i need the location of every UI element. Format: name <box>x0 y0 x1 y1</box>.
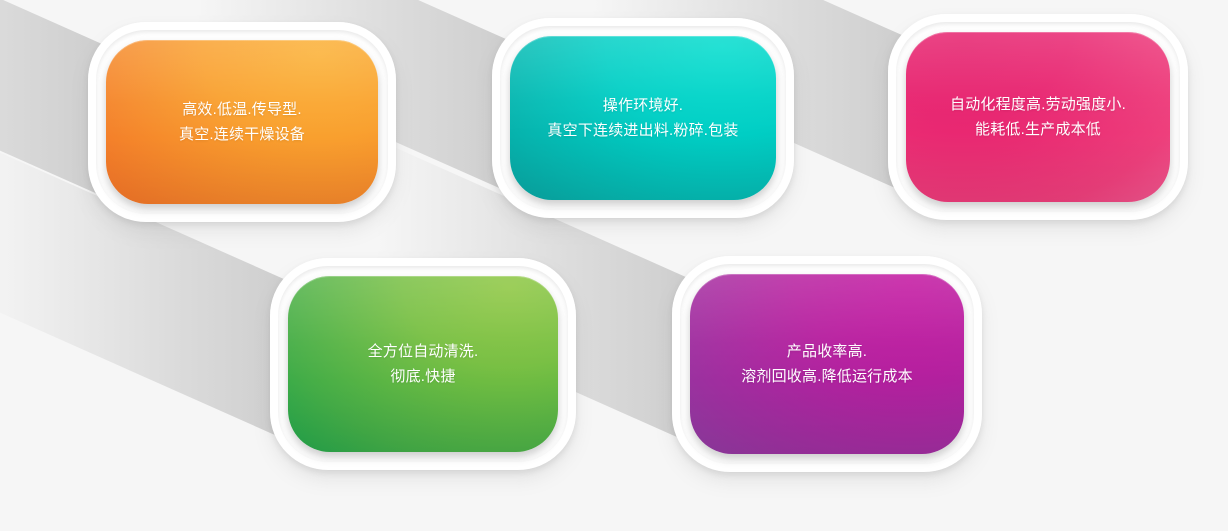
feature-card-panel: 高效.低温.传导型. 真空.连续干燥设备 <box>106 40 378 204</box>
feature-card-text: 全方位自动清洗. 彻底.快捷 <box>368 339 479 389</box>
feature-card-text: 高效.低温.传导型. 真空.连续干燥设备 <box>179 97 305 147</box>
feature-card-line-1: 全方位自动清洗. <box>368 339 479 364</box>
feature-card-line-2: 真空下连续进出料.粉碎.包装 <box>547 118 738 143</box>
feature-card-line-2: 彻底.快捷 <box>368 364 479 389</box>
feature-card-environment[interactable]: 操作环境好. 真空下连续进出料.粉碎.包装 <box>492 18 794 218</box>
feature-card-line-1: 高效.低温.传导型. <box>179 97 305 122</box>
feature-card-line-2: 能耗低.生产成本低 <box>950 117 1126 142</box>
feature-card-panel: 自动化程度高.劳动强度小. 能耗低.生产成本低 <box>906 32 1170 202</box>
feature-card-automation[interactable]: 自动化程度高.劳动强度小. 能耗低.生产成本低 <box>888 14 1188 220</box>
feature-card-line-1: 产品收率高. <box>741 339 913 364</box>
feature-card-text: 操作环境好. 真空下连续进出料.粉碎.包装 <box>547 93 738 143</box>
feature-card-yield[interactable]: 产品收率高. 溶剂回收高.降低运行成本 <box>672 256 982 472</box>
feature-card-line-2: 溶剂回收高.降低运行成本 <box>741 364 913 389</box>
feature-card-panel: 操作环境好. 真空下连续进出料.粉碎.包装 <box>510 36 776 200</box>
feature-card-line-1: 操作环境好. <box>547 93 738 118</box>
feature-card-panel: 全方位自动清洗. 彻底.快捷 <box>288 276 558 452</box>
feature-card-efficiency[interactable]: 高效.低温.传导型. 真空.连续干燥设备 <box>88 22 396 222</box>
feature-card-board: 高效.低温.传导型. 真空.连续干燥设备 操作环境好. 真空下连续进出料.粉碎.… <box>0 0 1228 531</box>
feature-card-text: 产品收率高. 溶剂回收高.降低运行成本 <box>741 339 913 389</box>
feature-card-text: 自动化程度高.劳动强度小. 能耗低.生产成本低 <box>950 92 1126 142</box>
feature-card-line-1: 自动化程度高.劳动强度小. <box>950 92 1126 117</box>
feature-card-panel: 产品收率高. 溶剂回收高.降低运行成本 <box>690 274 964 454</box>
feature-card-line-2: 真空.连续干燥设备 <box>179 122 305 147</box>
feature-card-cleaning[interactable]: 全方位自动清洗. 彻底.快捷 <box>270 258 576 470</box>
